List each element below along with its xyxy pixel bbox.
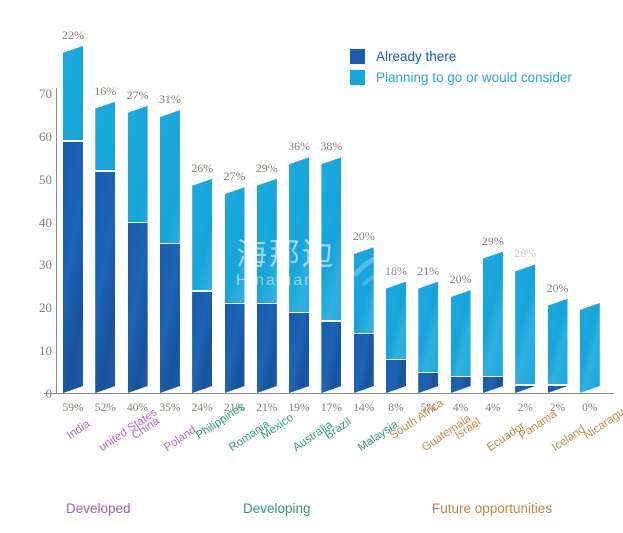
bar-mexico[interactable] xyxy=(257,179,277,393)
bar-value-label: 20% xyxy=(334,230,394,242)
bar-segment-already-there xyxy=(386,359,406,393)
bar-segment-divider xyxy=(95,170,115,172)
bar-segment-divider xyxy=(354,333,374,335)
x-axis-country-label: Poland xyxy=(162,424,198,454)
bar-value-label: 22% xyxy=(43,29,103,41)
bar-segment-planning xyxy=(580,303,600,393)
bar-value-label: 20% xyxy=(431,273,491,285)
bar-segment-divider xyxy=(548,384,568,386)
bar-segment-divider xyxy=(451,376,471,378)
bar-segment-divider xyxy=(128,222,148,224)
bar-value-label: 20% xyxy=(528,282,588,294)
bar-segment-already-there xyxy=(451,376,471,393)
bar-segment-already-there xyxy=(63,140,83,393)
bar-guatemala[interactable] xyxy=(418,282,438,393)
bar-segment-divider xyxy=(192,290,212,292)
bar-segment-divider xyxy=(483,376,503,378)
y-axis-line xyxy=(56,88,57,394)
bar-value-label: 31% xyxy=(140,93,200,105)
bar-segment-already-there xyxy=(354,333,374,393)
bar-value-label: 29% xyxy=(237,162,297,174)
bar-australia[interactable] xyxy=(289,157,309,393)
bar-segment-already-there xyxy=(257,303,277,393)
bar-united-states[interactable] xyxy=(95,102,115,393)
bar-segment-divider xyxy=(386,359,406,361)
bar-segment-already-there xyxy=(418,372,438,393)
x-axis-country-label: Iceland xyxy=(550,423,587,454)
bar-segment-already-there xyxy=(225,303,245,393)
x-axis-country-label: India xyxy=(65,418,92,442)
bar-segment-divider xyxy=(289,312,309,314)
bar-segment-divider xyxy=(321,320,341,322)
bar-segment-already-there xyxy=(321,320,341,393)
legend-swatch-icon xyxy=(350,70,365,85)
bar-value-label: 38% xyxy=(301,140,361,152)
bar-segment-divider xyxy=(63,140,83,142)
bar-segment-divider xyxy=(418,372,438,374)
bar-ecuador[interactable] xyxy=(483,252,503,393)
bar-segment-divider xyxy=(515,384,535,386)
legend-item[interactable]: Planning to go or would consider xyxy=(350,67,572,88)
bar-segment-already-there xyxy=(289,312,309,393)
bar-segment-planning xyxy=(483,252,503,393)
bar-value-label: 29% xyxy=(463,235,523,247)
bar-segment-already-there xyxy=(192,290,212,393)
bar-philippines[interactable] xyxy=(192,179,212,393)
bar-romania[interactable] xyxy=(225,187,245,393)
bar-china[interactable] xyxy=(128,106,148,393)
bar-segment-already-there xyxy=(483,376,503,393)
bar-india[interactable] xyxy=(63,46,83,393)
legend-label: Already there xyxy=(376,49,456,64)
bar-segment-already-there xyxy=(95,170,115,393)
bar-poland[interactable] xyxy=(160,110,180,393)
bar-south-africa[interactable] xyxy=(386,282,406,393)
bar-nicaragua[interactable] xyxy=(580,303,600,393)
bar-segment-planning xyxy=(548,299,568,393)
x-axis-country-label: Mexico xyxy=(259,412,296,442)
legend-item[interactable]: Already there xyxy=(350,46,572,67)
x-axis-line xyxy=(44,393,614,394)
bar-iceland[interactable] xyxy=(548,299,568,393)
chart-legend: Already therePlanning to go or would con… xyxy=(350,46,572,88)
bar-value-label: 28% xyxy=(495,247,555,259)
legend-label: Planning to go or would consider xyxy=(376,70,572,85)
bar-segment-already-there xyxy=(128,222,148,393)
bar-israel[interactable] xyxy=(451,290,471,393)
chart-container: 010203040506070 22%59%India16%52%united … xyxy=(0,0,623,533)
bar-base-percent-label: 0% xyxy=(568,402,612,414)
bar-brazil[interactable] xyxy=(321,157,341,393)
bar-segment-divider xyxy=(257,303,277,305)
legend-swatch-icon xyxy=(350,49,365,64)
bar-segment-already-there xyxy=(160,243,180,393)
bar-segment-divider xyxy=(225,303,245,305)
bar-segment-divider xyxy=(160,243,180,245)
